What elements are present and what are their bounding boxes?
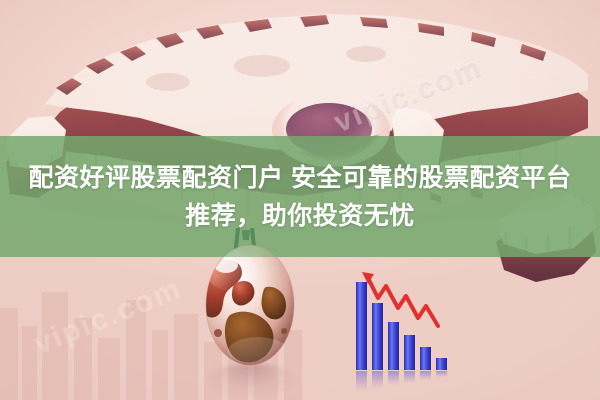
headline-band-overlay: [0, 136, 600, 257]
promo-banner: vipic.com vipic.com: [0, 0, 600, 400]
